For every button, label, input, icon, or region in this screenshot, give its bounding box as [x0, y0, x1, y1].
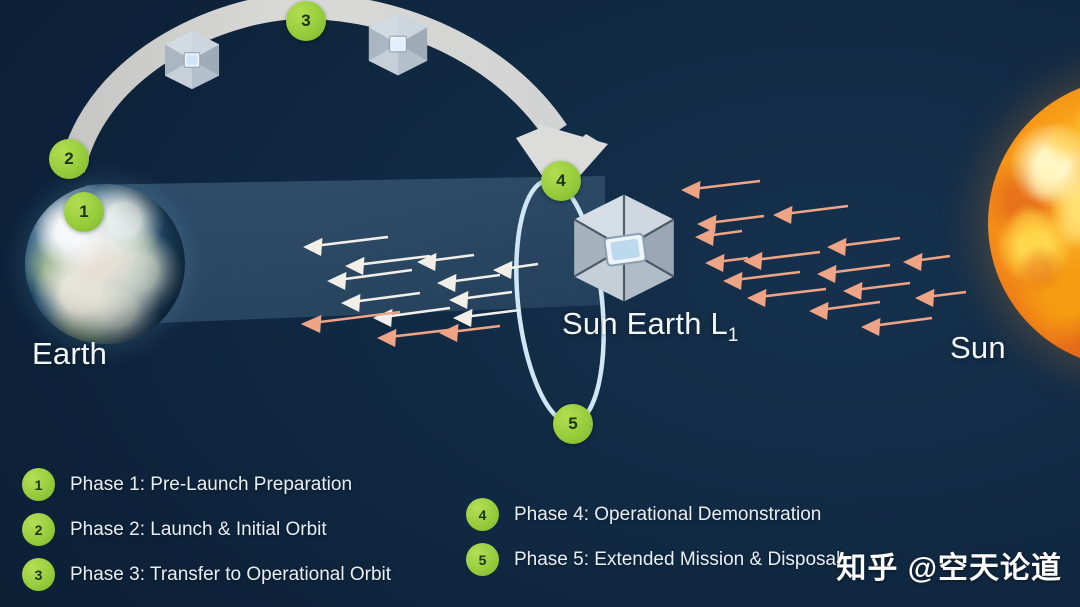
watermark: 知乎 @空天论道	[836, 543, 1062, 587]
legend-dot-4: 4	[466, 498, 499, 531]
legend-right-column: 4 Phase 4: Operational Demonstration 5 P…	[466, 498, 840, 588]
marker-4[interactable]: 4	[541, 161, 581, 201]
l1-label: Sun Earth L1	[562, 306, 739, 347]
diagram-canvas: Earth Sun Sun Earth L1 1 2 3 4 5 1 Phase…	[0, 0, 1080, 607]
legend-item-phase-4[interactable]: 4 Phase 4: Operational Demonstration	[466, 498, 840, 531]
marker-1[interactable]: 1	[64, 192, 104, 232]
legend-item-phase-2[interactable]: 2 Phase 2: Launch & Initial Orbit	[22, 513, 391, 546]
solar-wind-arrows-shadow	[306, 237, 538, 325]
earth-label: Earth	[32, 336, 107, 372]
legend-dot-1: 1	[22, 468, 55, 501]
marker-5[interactable]: 5	[553, 404, 593, 444]
legend-dot-5: 5	[466, 543, 499, 576]
legend-dot-3: 3	[22, 558, 55, 591]
legend-label-4: Phase 4: Operational Demonstration	[514, 504, 821, 526]
sun-label: Sun	[950, 330, 1006, 366]
legend-label-2: Phase 2: Launch & Initial Orbit	[70, 519, 327, 541]
legend-label-3: Phase 3: Transfer to Operational Orbit	[70, 564, 391, 586]
l1-label-subscript: 1	[728, 325, 739, 346]
l1-label-main: Sun Earth L	[562, 306, 728, 341]
legend-label-1: Phase 1: Pre-Launch Preparation	[70, 474, 352, 496]
marker-3[interactable]: 3	[286, 1, 326, 41]
solar-sail-at-l1	[574, 195, 673, 302]
legend-label-5: Phase 5: Extended Mission & Disposal	[514, 549, 840, 571]
legend-left-column: 1 Phase 1: Pre-Launch Preparation 2 Phas…	[22, 468, 391, 603]
legend-item-phase-5[interactable]: 5 Phase 5: Extended Mission & Disposal	[466, 543, 840, 576]
legend-dot-2: 2	[22, 513, 55, 546]
legend-item-phase-3[interactable]: 3 Phase 3: Transfer to Operational Orbit	[22, 558, 391, 591]
legend-item-phase-1[interactable]: 1 Phase 1: Pre-Launch Preparation	[22, 468, 391, 501]
marker-2[interactable]: 2	[49, 139, 89, 179]
